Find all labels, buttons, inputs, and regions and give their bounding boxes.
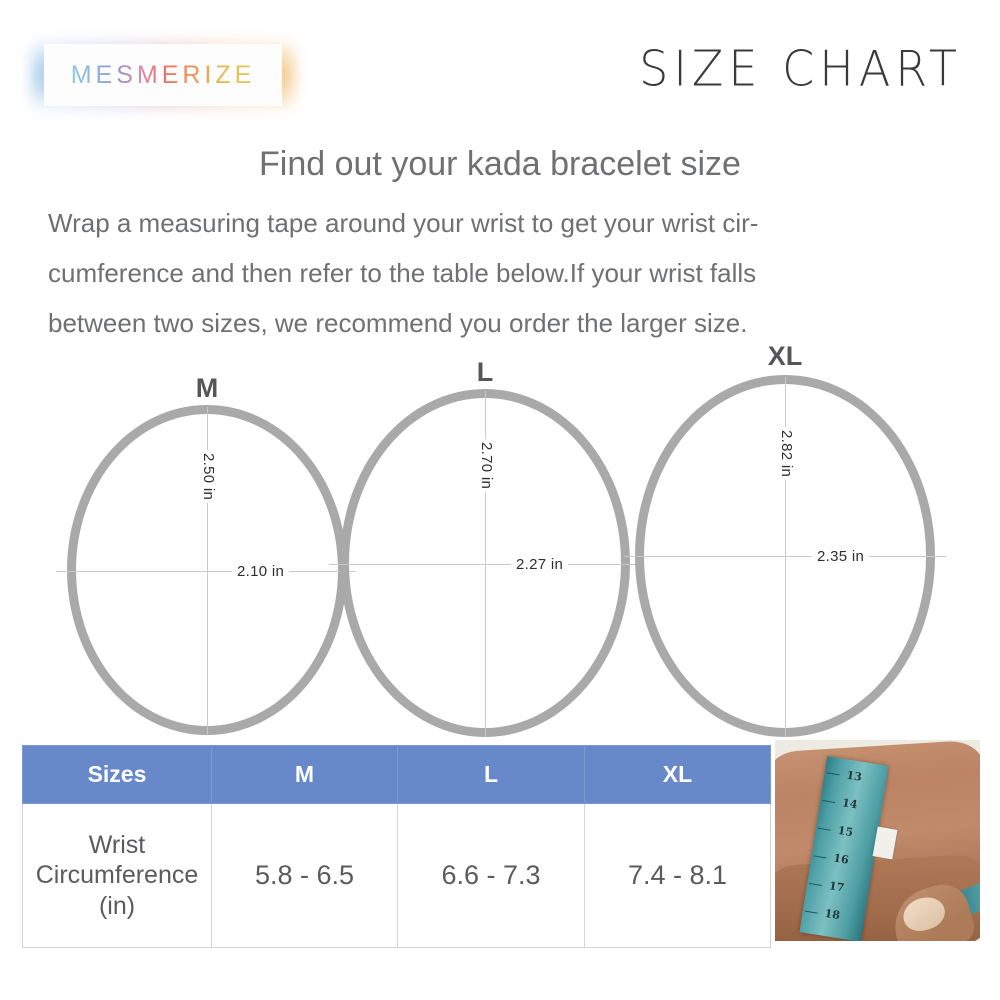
tape-tick: [827, 772, 840, 775]
row-label-line-2: Circumference: [24, 860, 210, 891]
table-header-row: Sizes M L XL: [23, 746, 771, 804]
table-header: Sizes M L XL: [23, 746, 771, 804]
table-header-sizes: Sizes: [23, 746, 212, 804]
intro-paragraph: Wrap a measuring tape around your wrist …: [48, 199, 954, 349]
oval-size-label-l: L: [477, 359, 494, 386]
tape-mark-14: 14: [841, 796, 858, 811]
table-row: Wrist Circumference (in) 5.8 - 6.5 6.6 -…: [23, 804, 771, 948]
tape-tick: [809, 883, 822, 886]
table-header-l: L: [398, 746, 585, 804]
intro-line-2: cumference and then refer to the table b…: [48, 249, 954, 299]
tape-mark-18: 18: [824, 907, 841, 922]
tape-mark-13: 13: [846, 769, 863, 784]
oval-height-label-l: 2.70 in: [478, 439, 495, 492]
tape-tick: [805, 911, 818, 914]
oval-axis-horizontal-xl: [624, 556, 946, 557]
size-chart-page: MESMERIZE SIZE CHART Find out your kada …: [0, 0, 1000, 1000]
oval-width-label-m: 2.10 in: [232, 563, 289, 580]
oval-width-label-l: 2.27 in: [511, 556, 568, 573]
row-label-line-1: Wrist: [24, 830, 210, 861]
oval-diagram-group: M 2.50 in 2.10 in L 2.70 in 2.27 in XL 2…: [0, 355, 1000, 745]
table-body: Wrist Circumference (in) 5.8 - 6.5 6.6 -…: [23, 804, 771, 948]
oval-axis-horizontal-m: [56, 571, 356, 572]
oval-height-label-m: 2.50 in: [200, 450, 217, 503]
brand-logo: MESMERIZE: [44, 44, 282, 106]
oval-unit-xl: XL 2.82 in 2.35 in: [630, 343, 940, 737]
oval-unit-m: M 2.50 in 2.10 in: [62, 375, 352, 735]
subtitle: Find out your kada bracelet size: [0, 146, 1000, 183]
oval-height-label-xl: 2.82 in: [778, 427, 795, 480]
wrist-measurement-photo: 13 14 15 16 17 18: [775, 740, 980, 941]
oval-size-label-m: M: [196, 375, 219, 402]
tape-mark-17: 17: [828, 879, 845, 894]
size-table: Sizes M L XL Wrist Circumference (in) 5.…: [22, 745, 771, 948]
cell-wrist-l: 6.6 - 7.3: [398, 804, 585, 948]
row-label-wrist-circumference: Wrist Circumference (in): [23, 804, 212, 948]
table-header-m: M: [212, 746, 398, 804]
tape-mark-16: 16: [832, 852, 849, 867]
oval-size-label-xl: XL: [768, 343, 803, 370]
logo-plate: MESMERIZE: [44, 44, 282, 106]
tape-tick: [813, 855, 826, 858]
table-header-xl: XL: [585, 746, 771, 804]
oval-width-label-xl: 2.35 in: [812, 548, 869, 565]
tape-mark-15: 15: [837, 824, 854, 839]
oval-unit-l: L 2.70 in 2.27 in: [335, 359, 635, 737]
oval-axis-horizontal-l: [329, 564, 641, 565]
tape-tick: [818, 828, 831, 831]
tape-tick: [822, 800, 835, 803]
row-label-line-3: (in): [24, 891, 210, 922]
cell-wrist-xl: 7.4 - 8.1: [585, 804, 771, 948]
intro-line-3: between two sizes, we recommend you orde…: [48, 299, 954, 349]
intro-line-1: Wrap a measuring tape around your wrist …: [48, 199, 954, 249]
page-title: SIZE CHART: [639, 44, 962, 93]
logo-wordmark: MESMERIZE: [71, 63, 256, 88]
cell-wrist-m: 5.8 - 6.5: [212, 804, 398, 948]
